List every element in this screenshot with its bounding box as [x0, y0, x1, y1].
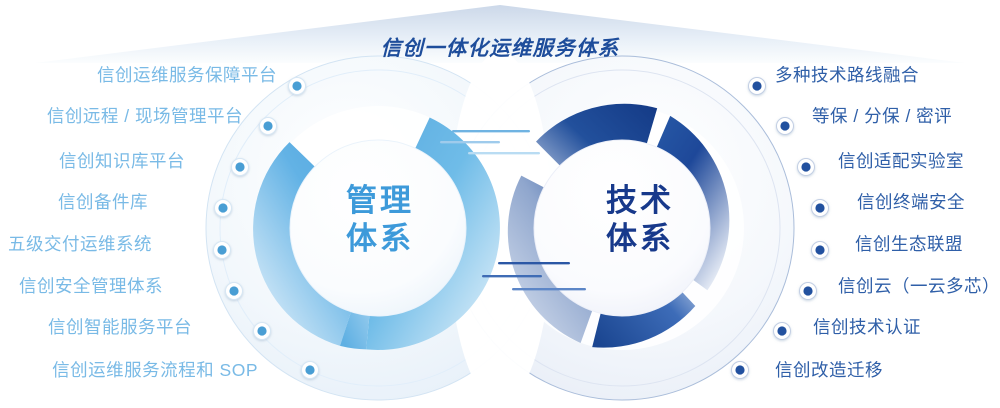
right-connector-dot-8 [732, 362, 749, 379]
left-label-4: 信创备件库 [58, 194, 148, 212]
left-connector-dot-4 [215, 200, 232, 217]
right-label-2: 等保 / 分保 / 密评 [812, 108, 952, 126]
speed-line-bottom-1 [498, 262, 570, 264]
right-connector-dot-4 [812, 200, 829, 217]
left-connector-dot-2 [260, 118, 277, 135]
left-connector-dot-6 [226, 283, 243, 300]
left-connector-dot-5 [214, 242, 231, 259]
right-connector-dot-7 [774, 323, 791, 340]
right-label-5: 信创生态联盟 [855, 236, 963, 254]
left-label-2: 信创远程 / 现场管理平台 [47, 108, 243, 126]
left-label-8: 信创运维服务流程和 SOP [52, 362, 258, 380]
hub-left-label: 管理 体系 [290, 182, 470, 258]
hub-left-label-line2: 体系 [290, 220, 470, 258]
right-label-6: 信创云（一云多芯） [838, 278, 1000, 296]
left-label-6: 信创安全管理体系 [19, 278, 163, 296]
left-connector-dot-8 [302, 362, 319, 379]
right-label-7: 信创技术认证 [813, 319, 921, 337]
left-label-5: 五级交付运维系统 [8, 236, 152, 254]
speed-line-top-1 [452, 130, 530, 132]
right-label-1: 多种技术路线融合 [775, 67, 919, 85]
left-connector-dot-1 [289, 78, 306, 95]
infographic-canvas: 信创一体化运维服务体系 管理 体系 技术 体系 信创运维服务保障平台信创远程 /… [0, 0, 1000, 408]
hub-right-label-line2: 体系 [550, 220, 730, 258]
hub-right-label-line1: 技术 [550, 182, 730, 220]
speed-line-top-3 [468, 152, 540, 154]
diagram-artwork [0, 0, 1000, 408]
hub-right-label: 技术 体系 [550, 182, 730, 258]
right-connector-dot-2 [777, 118, 794, 135]
left-label-7: 信创智能服务平台 [48, 319, 192, 337]
right-label-3: 信创适配实验室 [838, 153, 964, 171]
right-connector-dot-5 [812, 242, 829, 259]
right-label-4: 信创终端安全 [857, 194, 965, 212]
left-connector-dot-7 [254, 323, 271, 340]
right-label-8: 信创改造迁移 [775, 362, 883, 380]
right-connector-dot-3 [798, 159, 815, 176]
right-connector-dot-1 [749, 78, 766, 95]
left-label-1: 信创运维服务保障平台 [97, 67, 277, 85]
page-title: 信创一体化运维服务体系 [0, 31, 1000, 61]
left-connector-dot-3 [232, 159, 249, 176]
right-connector-dot-6 [800, 283, 817, 300]
hub-left-label-line1: 管理 [290, 182, 470, 220]
left-label-3: 信创知识库平台 [59, 153, 185, 171]
speed-line-bottom-3 [512, 288, 586, 290]
speed-line-top-2 [440, 141, 500, 143]
speed-line-bottom-2 [482, 275, 542, 277]
